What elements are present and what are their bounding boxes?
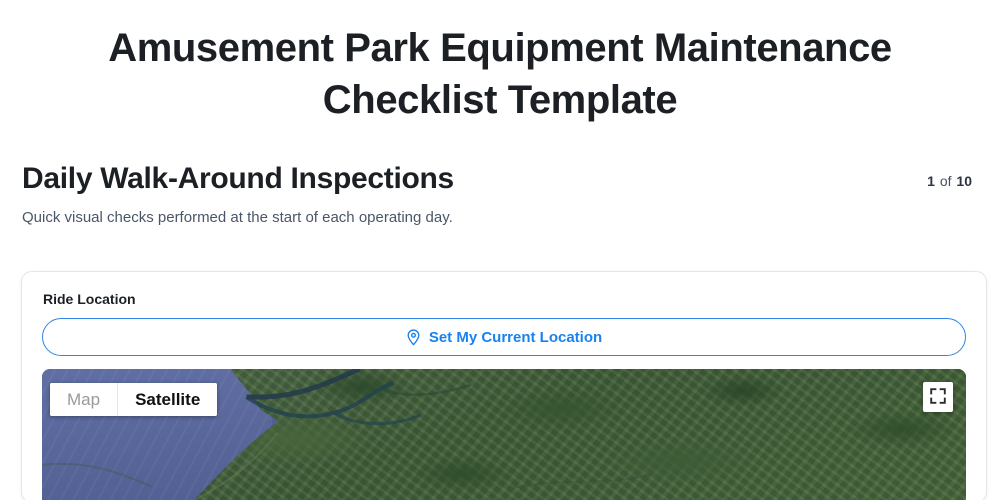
section-subtitle: Quick visual checks performed at the sta… bbox=[0, 196, 1000, 228]
step-counter: 1 of 10 bbox=[927, 173, 978, 189]
ride-location-label: Ride Location bbox=[42, 290, 966, 308]
map-pin-icon bbox=[406, 329, 421, 346]
section-header: Daily Walk-Around Inspections 1 of 10 bbox=[0, 126, 1000, 196]
fullscreen-expand-icon bbox=[930, 388, 946, 407]
page-root: Amusement Park Equipment Maintenance Che… bbox=[0, 0, 1000, 500]
map-type-satellite-button[interactable]: Satellite bbox=[117, 383, 217, 416]
map-fullscreen-button[interactable] bbox=[923, 382, 953, 412]
location-map[interactable]: Map Satellite bbox=[42, 369, 966, 500]
set-current-location-button[interactable]: Set My Current Location bbox=[42, 318, 966, 356]
step-total: 10 bbox=[956, 173, 972, 189]
page-title: Amusement Park Equipment Maintenance Che… bbox=[0, 0, 1000, 126]
step-current: 1 bbox=[927, 173, 935, 189]
section-title: Daily Walk-Around Inspections bbox=[22, 162, 454, 196]
map-type-toggle[interactable]: Map Satellite bbox=[50, 383, 217, 416]
step-of-label: of bbox=[939, 173, 953, 189]
ride-location-card: Ride Location Set My Current Location bbox=[21, 271, 987, 500]
map-type-map-button[interactable]: Map bbox=[50, 383, 117, 416]
set-current-location-label: Set My Current Location bbox=[429, 329, 602, 346]
